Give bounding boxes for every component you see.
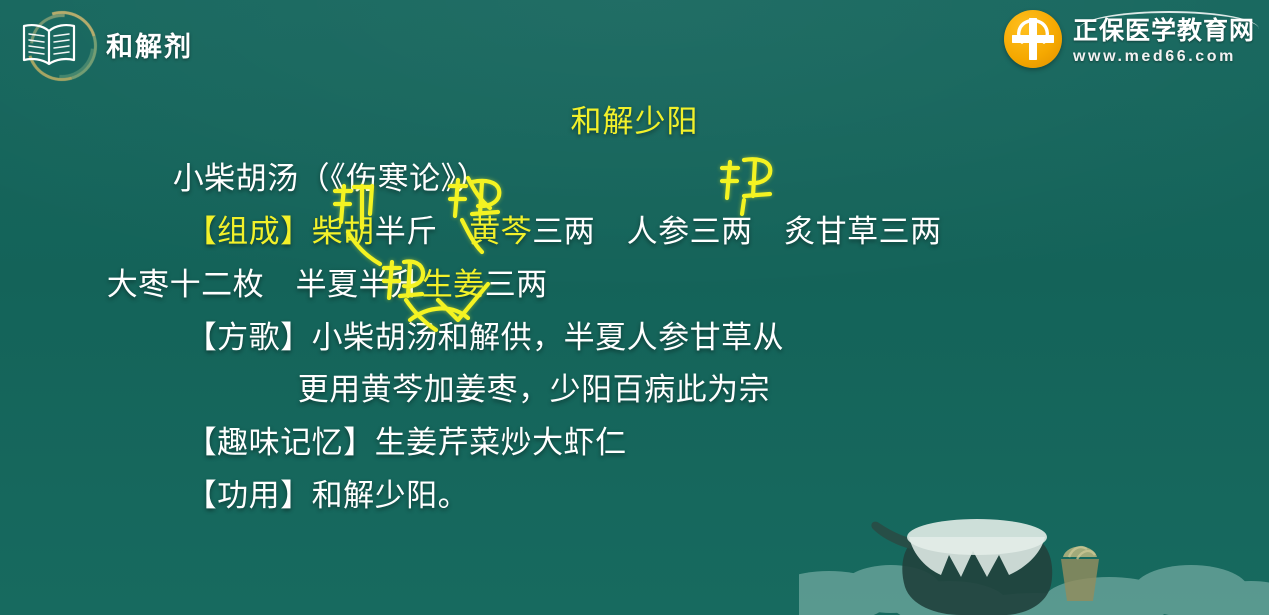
book-badge — [18, 9, 92, 79]
content-line-function: 【功用】和解少阳。 — [131, 449, 469, 542]
slide-canvas: 和解剂 — [0, 0, 1269, 615]
brand-url: www.med66.com — [1073, 49, 1255, 65]
text-segment: 【功用】和解少阳。 — [186, 478, 470, 513]
page-title: 和解剂 — [106, 25, 193, 64]
open-book-icon — [20, 22, 78, 66]
header-title-group: 和解剂 — [18, 9, 193, 79]
brand-swoosh-icon — [1079, 11, 1259, 29]
brand-text-group: 正保医学教育网 www.med66.com — [1073, 13, 1255, 65]
brand-name: 正保医学教育网 — [1073, 13, 1255, 44]
slide-header: 和解剂 — [0, 0, 1269, 88]
slide-body: 和解少阳 小柴胡汤（《伤寒论》） 【组成】柴胡半斤 黄芩三两 人参三两 炙甘草三… — [0, 88, 1269, 141]
brand-logo: 正保医学教育网 www.med66.com — [1004, 8, 1255, 70]
medicine-pot-icon — [871, 519, 1099, 615]
brand-cross-icon — [1004, 10, 1062, 68]
dose-rest: 三两 人参三两 炙甘草三两 — [532, 214, 942, 249]
clouds-icon — [799, 485, 1269, 615]
